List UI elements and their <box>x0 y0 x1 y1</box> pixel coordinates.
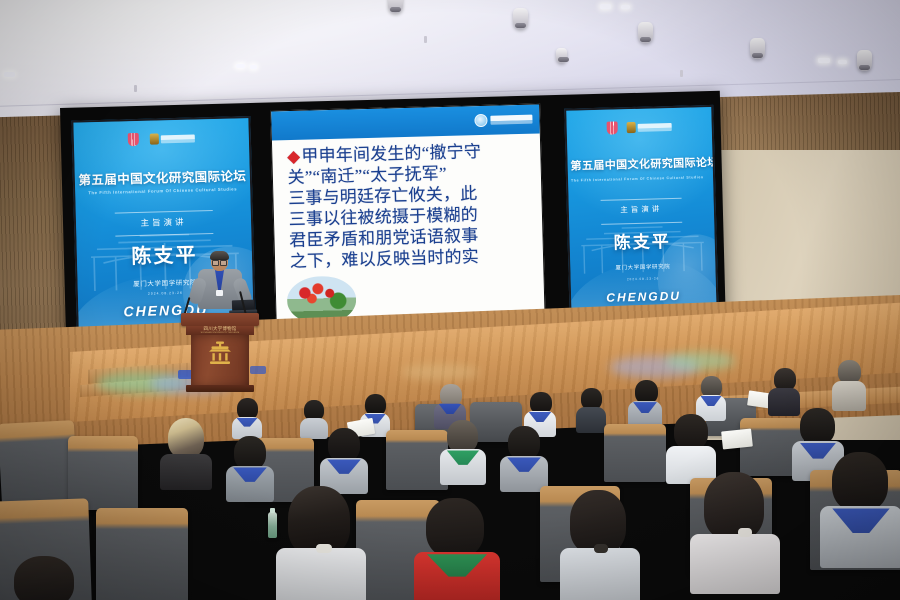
sichuan-university-history-culture-college-logo <box>149 133 194 145</box>
lanyard <box>529 412 551 422</box>
podium-base <box>186 385 254 392</box>
university-wordmark <box>637 123 671 132</box>
xiamen-university-wordmark <box>490 115 532 125</box>
audience-member <box>832 360 866 410</box>
ceiling-downlight <box>818 58 830 63</box>
audience-member <box>320 428 368 494</box>
bullet-marker-icon: ◆ <box>287 147 301 166</box>
sichuan-university-history-culture-college-logo <box>626 121 671 133</box>
head <box>14 556 74 600</box>
ceiling-downlight <box>4 72 15 77</box>
audience-member <box>440 420 486 484</box>
head <box>234 436 266 470</box>
ceiling-downlight <box>600 4 611 9</box>
lanyard <box>427 554 487 576</box>
hair-tie <box>594 544 608 553</box>
head <box>800 408 835 445</box>
screen-wall-block: 第五届中国文化研究国际论坛 The Fifth International Fo… <box>60 91 726 340</box>
forum-emblem-logo <box>128 133 139 146</box>
audience-member <box>628 380 662 428</box>
ceiling-speaker <box>857 50 872 71</box>
screen-center[interactable]: ◆甲申年间发生的“撤宁守 关”“南迁”“太子抚军” 三事与明廷存亡攸关，此 三事… <box>270 103 546 330</box>
ceiling-downlight <box>838 60 847 64</box>
auditorium-scene: 第五届中国文化研究国际论坛 The Fifth International Fo… <box>0 0 900 600</box>
ceiling-downlight <box>621 5 630 9</box>
speaker-name: 陈支平 <box>569 226 715 255</box>
audience-member-red-shirt <box>414 498 500 600</box>
hair-tie <box>316 544 332 553</box>
podium: 四川大学博物馆 SICHUAN UNIVERSITY MUSEUM <box>184 313 256 391</box>
sprinkler-head <box>134 85 137 92</box>
ceiling-downlight <box>250 65 257 69</box>
speaker-badge <box>216 290 223 296</box>
lanyard <box>507 457 541 471</box>
seat[interactable] <box>0 420 78 510</box>
ceiling-speaker <box>556 48 567 63</box>
lanyard <box>701 396 722 406</box>
ceiling-downlight <box>236 64 245 68</box>
venue-name-en: SICHUAN UNIVERSITY MUSEUM <box>201 332 240 334</box>
lanyard <box>832 508 889 533</box>
seat[interactable] <box>96 508 188 600</box>
screen-right[interactable]: 第五届中国文化研究国际论坛 The Fifth International Fo… <box>564 105 718 318</box>
torso <box>820 506 900 568</box>
hair-tie <box>738 528 752 537</box>
lanyard <box>327 459 361 473</box>
university-seal-icon <box>626 122 635 133</box>
head <box>704 472 764 540</box>
slide-identity-right: 第五届中国文化研究国际论坛 The Fifth International Fo… <box>566 107 716 316</box>
torso <box>226 466 274 502</box>
torso <box>276 548 366 600</box>
lanyard <box>633 402 657 413</box>
torso <box>560 548 640 600</box>
stage-light-pool <box>665 352 735 370</box>
podium-nameplate: 四川大学博物馆 SICHUAN UNIVERSITY MUSEUM <box>186 326 254 335</box>
head <box>508 426 540 460</box>
torso <box>690 534 780 594</box>
sprinkler-head <box>424 36 427 43</box>
audience-member <box>820 452 900 568</box>
audience-member-ponytail <box>690 472 780 592</box>
slide-body-text: ◆甲申年间发生的“撤宁守 关”“南迁”“太子抚军” 三事与明廷存亡攸关，此 三事… <box>287 140 531 273</box>
torso <box>440 449 486 485</box>
lanyard <box>237 418 258 427</box>
stage-light-pool <box>400 364 480 380</box>
audience-member <box>232 398 262 438</box>
head <box>426 498 484 558</box>
audience-member-ponytail <box>560 490 640 600</box>
podium-top <box>181 313 259 326</box>
lanyard <box>447 450 479 464</box>
slide-header-band <box>271 104 540 140</box>
audience-member <box>576 388 606 432</box>
ceiling-speaker <box>750 38 765 59</box>
head <box>832 452 888 512</box>
audience-member <box>500 426 548 492</box>
university-seal-icon <box>149 134 158 145</box>
torso <box>832 381 866 411</box>
head <box>674 414 708 450</box>
handout-paper[interactable] <box>721 428 753 449</box>
torso <box>414 552 500 600</box>
audience-member-ponytail <box>276 486 366 600</box>
slide-line-text: 甲申年间发生的“撤宁守 <box>301 142 481 166</box>
lanyard <box>233 467 267 481</box>
seat[interactable] <box>386 430 448 490</box>
speaker-glasses <box>212 259 227 264</box>
audience-member-blonde <box>160 418 212 488</box>
audience-member <box>226 436 274 502</box>
head <box>168 418 204 458</box>
xiamen-university-logo <box>474 114 487 127</box>
forum-emblem-logo <box>607 122 618 135</box>
audience-member <box>0 556 96 600</box>
ceiling-speaker <box>388 0 403 13</box>
sprinkler-head <box>680 70 683 77</box>
torso <box>160 454 212 490</box>
university-wordmark <box>160 134 194 143</box>
torso <box>576 407 606 433</box>
ceiling-speaker <box>513 8 528 29</box>
seat[interactable] <box>604 424 666 482</box>
head <box>328 428 360 462</box>
lanyard <box>439 404 461 414</box>
sichuan-university-museum-emblem-icon <box>207 341 233 365</box>
ceiling-speaker <box>638 22 653 43</box>
